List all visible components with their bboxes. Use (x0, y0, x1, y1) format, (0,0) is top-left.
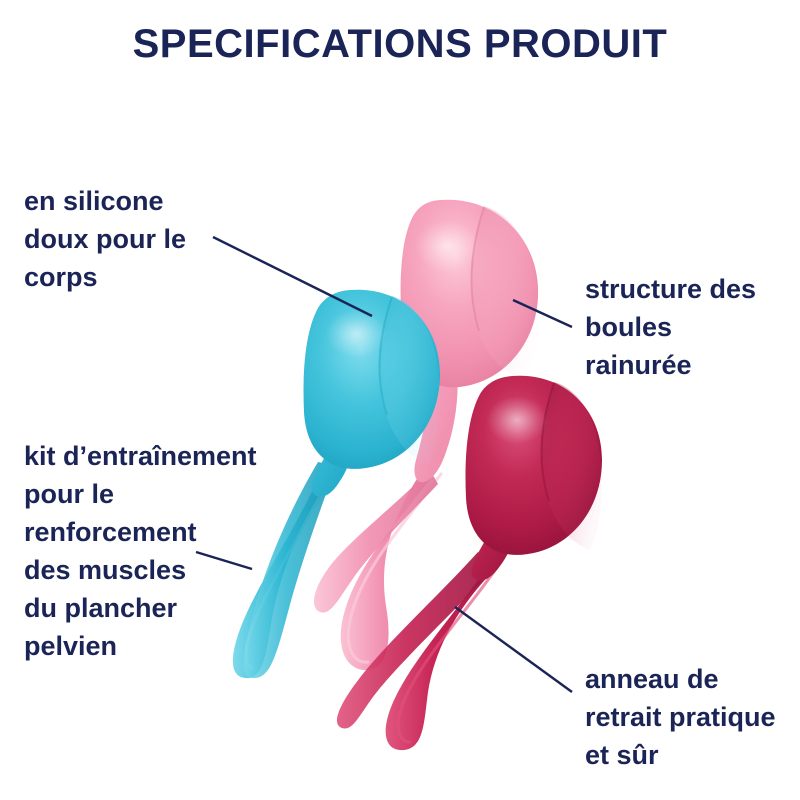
leader-line-structure (513, 300, 572, 327)
callout-kit: kit d’entraînement pour le renforcement … (24, 437, 257, 665)
infographic-page: SPECIFICATIONS PRODUIT (0, 0, 800, 800)
leader-line-anneau (455, 607, 572, 692)
callout-anneau: anneau de retrait pratique et sûr (585, 660, 776, 774)
callout-silicone: en silicone doux pour le corps (24, 182, 186, 296)
callout-structure: structure des boules rainurée (585, 270, 756, 384)
leader-line-silicone (213, 237, 372, 316)
